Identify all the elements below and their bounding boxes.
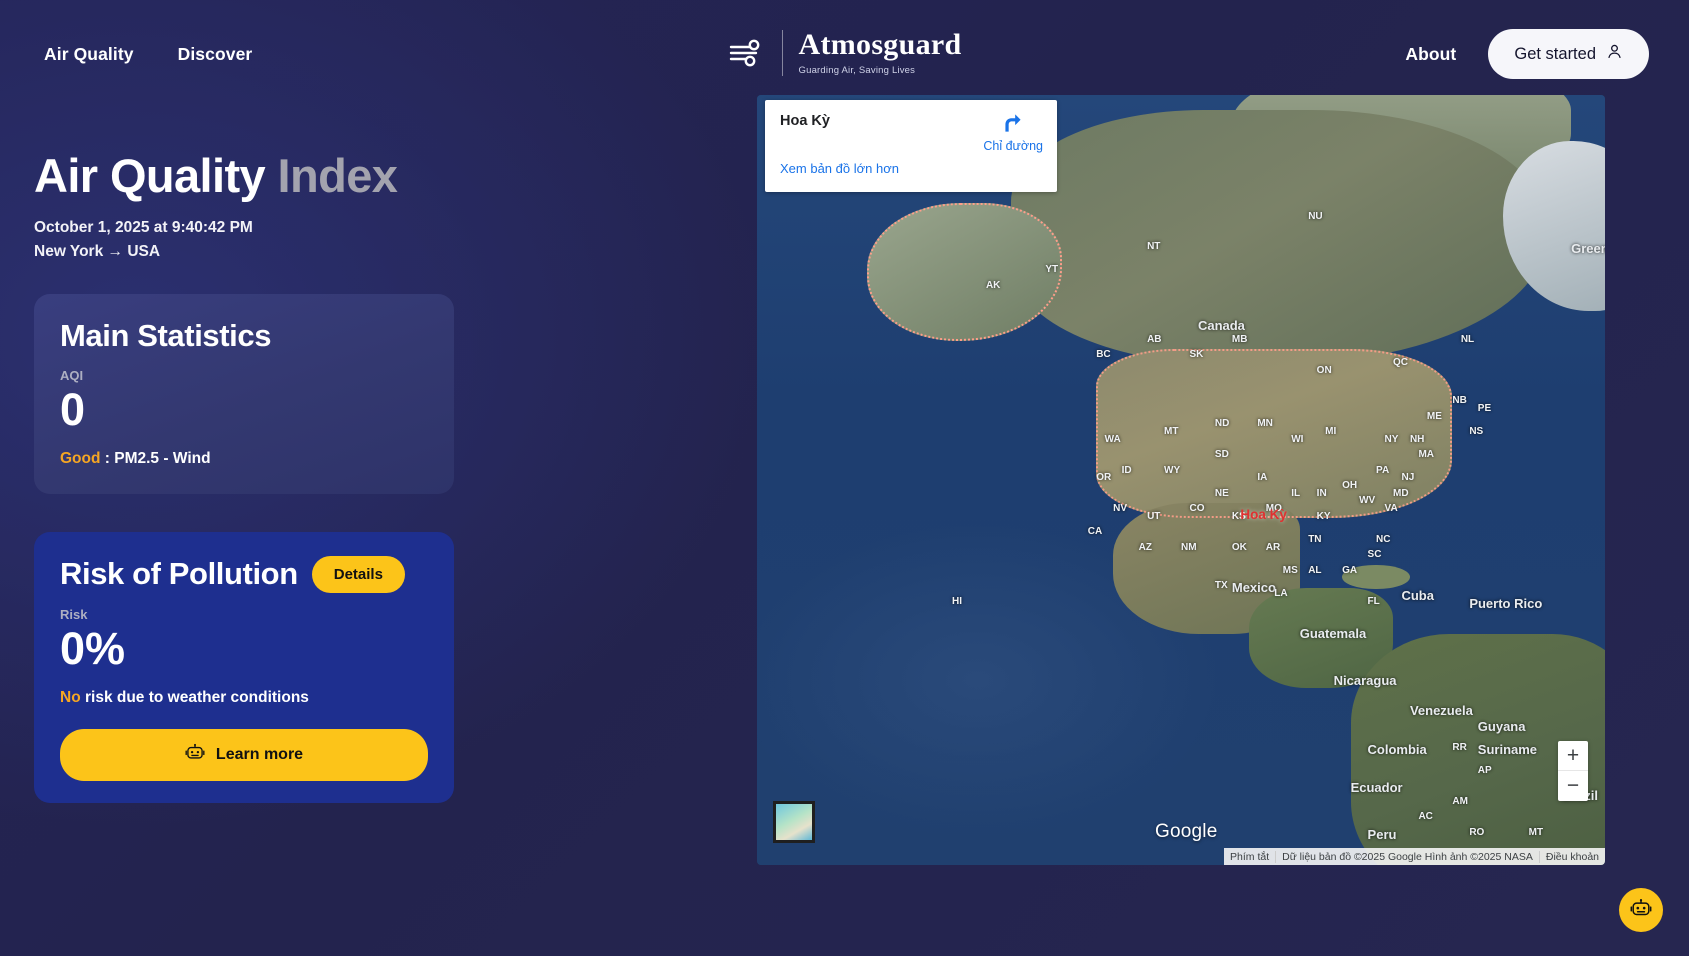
terms-link[interactable]: Điều khoản [1539,851,1605,863]
details-button[interactable]: Details [312,556,405,593]
map-label: Mexico [1232,580,1276,595]
wind-icon [727,36,765,70]
map-label: Guatemala [1300,626,1366,641]
map-directions-label: Chỉ đường [983,139,1043,153]
map-label: ND [1215,418,1229,429]
map-label: CO [1189,503,1204,514]
map-label: NY [1385,434,1399,445]
map-label: AZ [1139,542,1152,553]
map-label: MI [1325,426,1336,437]
map-label: WV [1359,495,1375,506]
map-label: AM [1452,796,1468,807]
map-label: KY [1317,511,1331,522]
map-label: AK [986,280,1000,291]
map-label: Colombia [1368,742,1427,757]
map-label: NM [1181,542,1197,553]
map-label: Venezuela [1410,703,1473,718]
map-label: Canada [1198,318,1245,333]
map-label: YT [1045,264,1058,275]
aqi-status-detail: : PM2.5 - Wind [105,450,211,467]
map-label: FL [1368,596,1380,607]
brand-name: Atmosguard [798,30,961,60]
main-statistics-card: Main Statistics AQI 0 Good : PM2.5 - Win… [34,294,454,494]
map-label: SD [1215,449,1229,460]
map-country-label-hoa-ky: Hoa Kỳ [1240,507,1287,522]
map-label: PE [1478,403,1491,414]
map-label: WY [1164,465,1180,476]
map-label: MA [1418,449,1434,460]
page-title: Air Quality Index [34,150,454,202]
chat-assistant-fab[interactable] [1619,888,1663,932]
map-label: UT [1147,511,1160,522]
secondary-nav: About Get started [1405,29,1649,79]
map-label: ME [1427,411,1442,422]
robot-icon [185,743,205,767]
nav-item-air-quality[interactable]: Air Quality [44,44,134,65]
map-data-attribution: Dữ liệu bản đồ ©2025 Google Hình ảnh ©20… [1275,851,1539,863]
map-info-card: Hoa Kỳ Chỉ đường Xem bản đồ lớn hơn [765,100,1057,192]
map-label: IL [1291,488,1300,499]
map-label: MT [1529,827,1543,838]
map-label: OK [1232,542,1247,553]
map-label: NC [1376,534,1390,545]
map-label: NV [1113,503,1127,514]
hero-meta: October 1, 2025 at 9:40:42 PM New York →… [34,216,454,264]
risk-value: 0% [60,626,428,671]
map-label: Ecuador [1351,780,1403,795]
map-label: Puerto Rico [1469,596,1542,611]
page-title-main: Air Quality [34,149,265,202]
brand-logo[interactable]: Atmosguard Guarding Air, Saving Lives [727,30,961,76]
map-label: GA [1342,565,1357,576]
risk-of-pollution-card: Risk of Pollution Details Risk 0% No ris… [34,532,454,803]
get-started-button[interactable]: Get started [1488,29,1649,79]
map-larger-map-link[interactable]: Xem bản đồ lớn hơn [780,161,899,176]
map-label: ON [1317,365,1332,376]
map-label: MD [1393,488,1409,499]
map-label: LA [1274,588,1287,599]
learn-more-button[interactable]: Learn more [60,729,428,781]
map-label: Cuba [1401,588,1434,603]
map-label: RR [1452,742,1466,753]
map-label: BC [1096,349,1110,360]
risk-label: Risk [60,607,428,622]
map-label: NE [1215,488,1229,499]
map-directions-button[interactable]: Chỉ đường [983,110,1043,153]
zoom-in-button[interactable]: + [1558,741,1588,771]
map-label: Peru [1368,827,1397,842]
risk-card-title: Risk of Pollution [60,556,298,592]
nav-item-about[interactable]: About [1405,44,1456,65]
map-label: Nicaragua [1334,673,1397,688]
map-attribution-bar: Phím tắt Dữ liệu bản đồ ©2025 Google Hìn… [1224,848,1605,865]
location: New York → USA [34,240,454,264]
map-label: CA [1088,526,1102,537]
map-label: ID [1122,465,1132,476]
left-panel: Air Quality Index October 1, 2025 at 9:4… [34,150,454,803]
brand-divider [781,30,782,76]
risk-status-word: No [60,689,81,706]
map-label: IN [1317,488,1327,499]
map-label: OH [1342,480,1357,491]
map-label: SK [1189,349,1203,360]
page-title-muted: Index [278,149,398,202]
robot-icon [1630,898,1652,922]
map-label: Greenland [1571,241,1605,256]
map-label: PA [1376,465,1389,476]
map-label: MS [1283,565,1298,576]
map-label: NU [1308,211,1322,222]
map-label: AB [1147,334,1161,345]
map-label: NB [1452,395,1466,406]
map-type-thumbnail-toggle[interactable] [773,801,815,843]
aqi-value: 0 [60,387,428,432]
map-label: OR [1096,472,1111,483]
aqi-label: AQI [60,368,428,383]
timestamp: October 1, 2025 at 9:40:42 PM [34,216,454,240]
map-label: NH [1410,434,1424,445]
map-container[interactable]: CanadaMexicoCubaPuerto RicoGuatemalaNica… [757,95,1605,865]
map-label: QC [1393,357,1408,368]
map-label: NJ [1401,472,1414,483]
map-label: MT [1164,426,1178,437]
brand-tagline: Guarding Air, Saving Lives [798,66,961,76]
map-label: TN [1308,534,1321,545]
map-label: Guyana [1478,719,1526,734]
map-label: TX [1215,580,1228,591]
map-label: VA [1385,503,1398,514]
aqi-status-word: Good [60,450,100,467]
map-label: NT [1147,241,1160,252]
map-label: AR [1266,542,1280,553]
nav-item-discover[interactable]: Discover [178,44,253,65]
user-icon [1606,43,1623,65]
map-label: RO [1469,827,1484,838]
zoom-out-button[interactable]: − [1558,771,1588,801]
risk-status-detail: risk due to weather conditions [85,689,309,706]
risk-status: No risk due to weather conditions [60,689,428,707]
top-navigation-bar: Air Quality Discover Atmosguard Guarding… [0,0,1689,108]
get-started-label: Get started [1514,45,1596,64]
map-label: AL [1308,565,1321,576]
map-label: MB [1232,334,1248,345]
map-label: SC [1368,549,1382,560]
map-label: Suriname [1478,742,1537,757]
primary-nav: Air Quality Discover [44,44,252,65]
keyboard-shortcuts-link[interactable]: Phím tắt [1224,851,1275,863]
map-label: HI [952,596,962,607]
learn-more-label: Learn more [216,746,303,764]
map-label: AC [1418,811,1432,822]
aqi-status: Good : PM2.5 - Wind [60,450,428,468]
map-label: NL [1461,334,1474,345]
directions-icon [1000,125,1026,139]
map-label: IA [1257,472,1267,483]
main-statistics-title: Main Statistics [60,318,428,354]
map-label: WI [1291,434,1303,445]
landmass-canada [1011,110,1545,364]
map-label: NS [1469,426,1483,437]
map-label: AP [1478,765,1492,776]
map-zoom-controls: + − [1558,741,1588,801]
map-label: WA [1105,434,1121,445]
map-label: MN [1257,418,1273,429]
google-logo: Google [1155,821,1217,843]
